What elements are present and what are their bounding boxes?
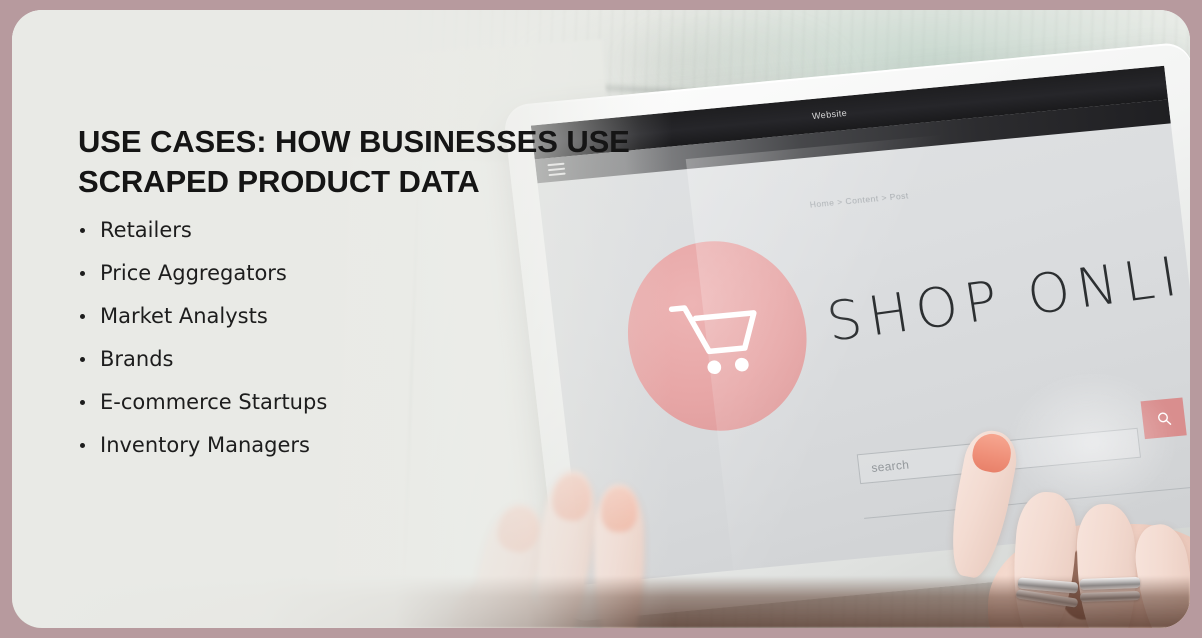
use-case-item: Retailers — [78, 219, 698, 242]
bullet-icon — [80, 400, 85, 405]
bullet-icon — [80, 271, 85, 276]
browser-tab-title[interactable]: Website — [811, 108, 847, 121]
use-case-label: Market Analysts — [100, 304, 268, 328]
use-case-item: Brands — [78, 348, 698, 371]
search-placeholder: search — [871, 457, 910, 474]
bullet-icon — [80, 314, 85, 319]
magnifier-icon — [1154, 409, 1173, 427]
bullet-icon — [80, 357, 85, 362]
use-case-item: Price Aggregators — [78, 262, 698, 285]
table-edge-shadow — [12, 576, 1190, 628]
page-title: USE CASES: HOW BUSINESSES USE SCRAPED PR… — [78, 122, 698, 203]
use-case-label: E-commerce Startups — [100, 390, 327, 414]
bullet-icon — [80, 228, 85, 233]
use-case-item: Market Analysts — [78, 305, 698, 328]
use-case-list: RetailersPrice AggregatorsMarket Analyst… — [78, 219, 698, 458]
use-case-item: E-commerce Startups — [78, 391, 698, 414]
banner-card: Website Home > Content > Post — [12, 10, 1190, 628]
text-block: USE CASES: HOW BUSINESSES USE SCRAPED PR… — [78, 122, 698, 477]
page-headline: SHOP ONLINE — [823, 232, 1190, 353]
fingernail — [493, 503, 543, 556]
use-case-label: Inventory Managers — [100, 433, 310, 457]
fingernail — [601, 487, 637, 531]
bullet-icon — [80, 443, 85, 448]
use-case-label: Brands — [100, 347, 174, 371]
use-case-item: Inventory Managers — [78, 434, 698, 457]
fingernail — [550, 472, 593, 523]
banner-frame: Website Home > Content > Post — [0, 0, 1202, 638]
use-case-label: Price Aggregators — [100, 261, 287, 285]
use-case-label: Retailers — [100, 218, 192, 242]
fingernail-polished — [970, 431, 1014, 476]
breadcrumb[interactable]: Home > Content > Post — [809, 190, 909, 209]
